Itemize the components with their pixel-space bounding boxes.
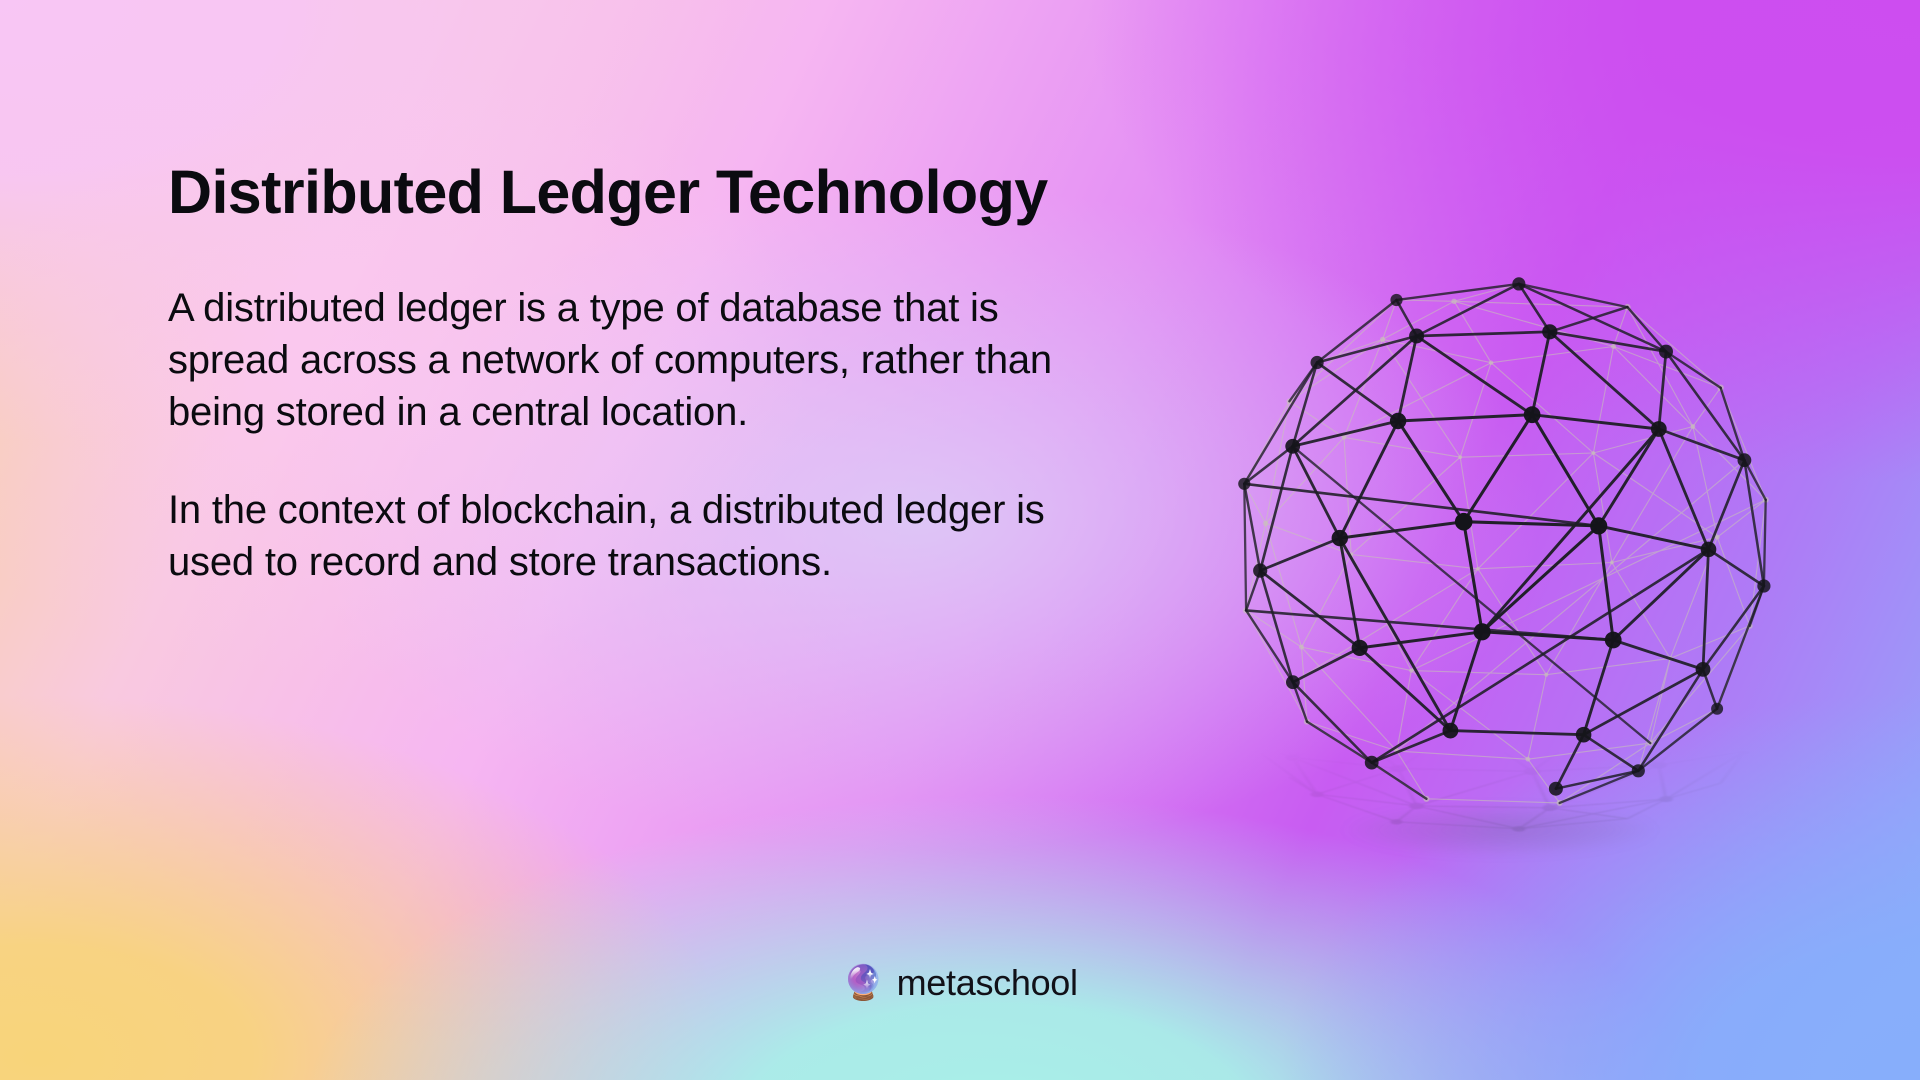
brand-name: metaschool [897,962,1078,1004]
slide-canvas: Distributed Ledger Technology A distribu… [0,0,1920,1080]
body-paragraph-1: A distributed ledger is a type of databa… [168,282,1118,438]
page-title: Distributed Ledger Technology [168,158,1148,226]
crystal-ball-icon: 🔮 [842,966,884,1000]
brand-logo[interactable]: 🔮 metaschool [842,962,1077,1004]
wireframe-network-sphere [1205,245,1805,845]
body-paragraph-2: In the context of blockchain, a distribu… [168,484,1118,588]
text-column: Distributed Ledger Technology A distribu… [168,158,1148,588]
